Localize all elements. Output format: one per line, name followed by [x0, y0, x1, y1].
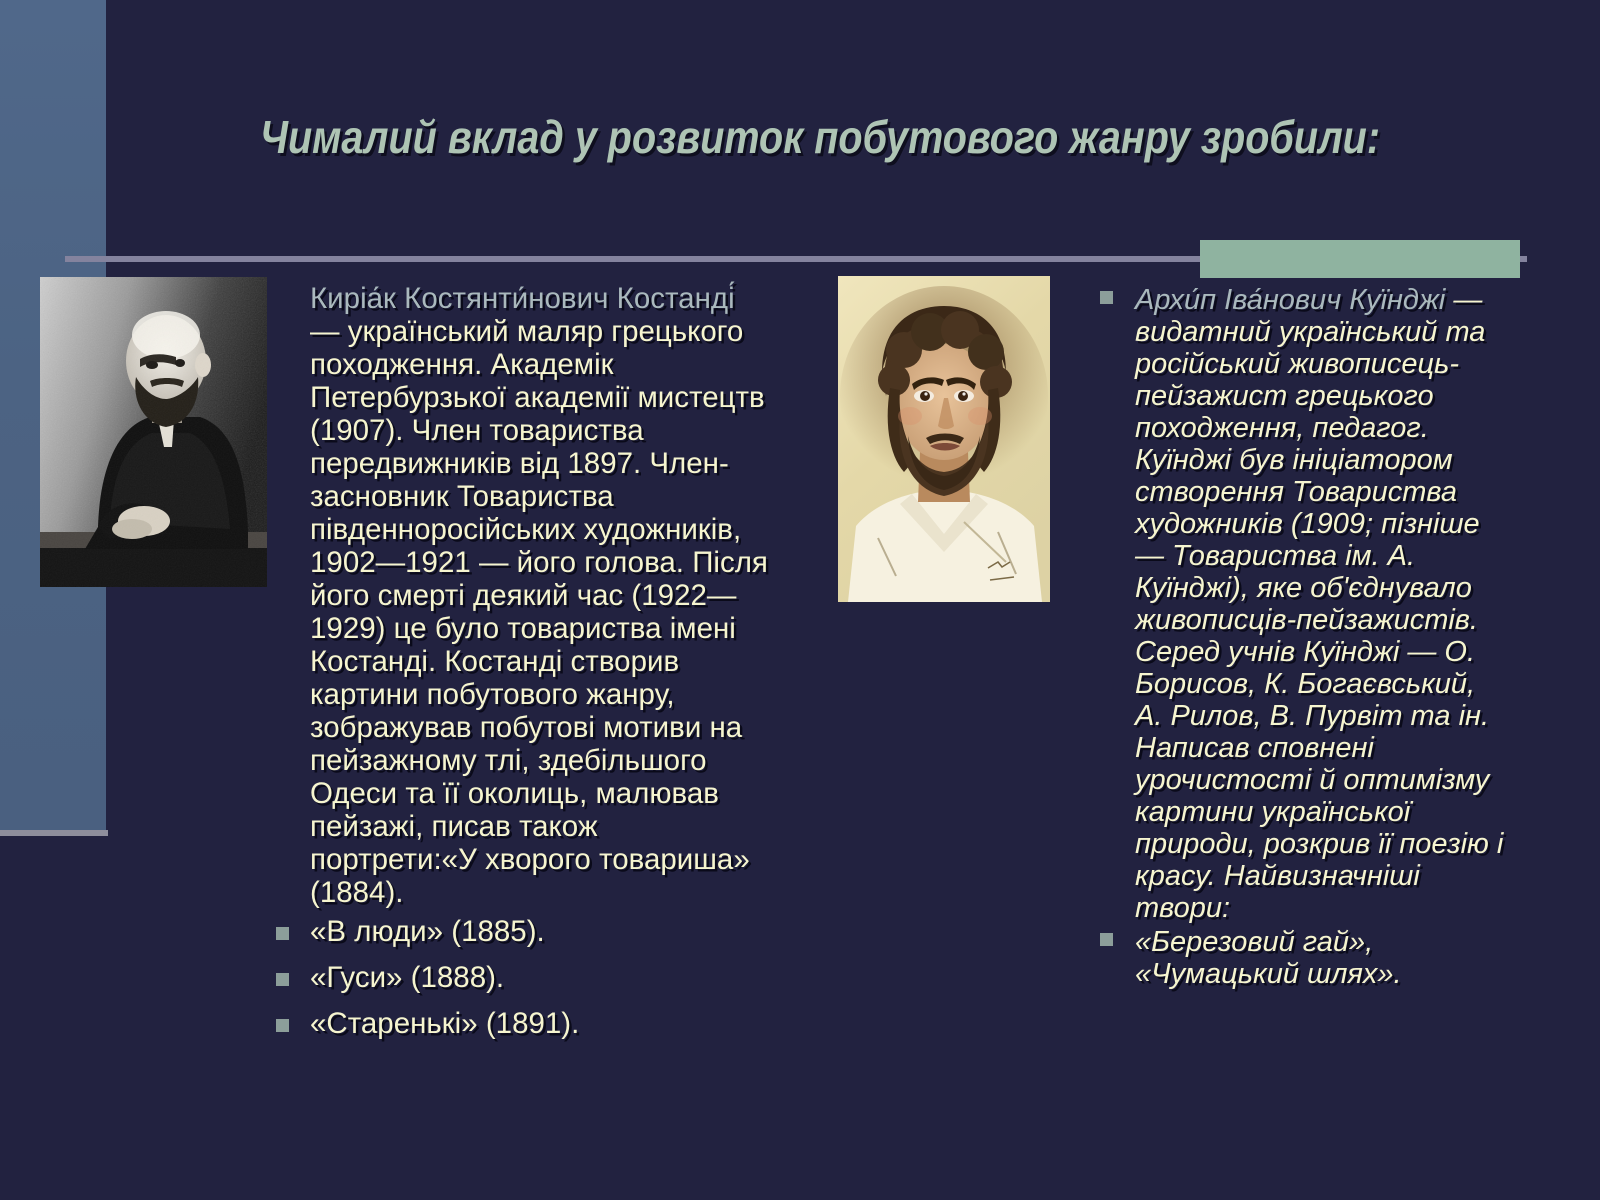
kostandi-name: Киріа́к Костянти́нович Костанді́ [310, 282, 735, 315]
list-item[interactable]: «В люди» (1885). [262, 909, 772, 955]
portrait-kuindzhi-image [838, 276, 1050, 602]
page-title: Чималий вклад у розвиток побутового жанр… [244, 110, 1396, 164]
green-accent-block [1200, 240, 1520, 278]
list-item[interactable]: «Старенькі» (1891). [262, 1001, 772, 1047]
kostandi-body: — український маляр грецького походження… [310, 315, 768, 909]
portrait-kostandi [40, 277, 267, 587]
left-text-column: Киріа́к Костянти́нович Костанді́ — украї… [262, 282, 772, 1047]
kuindzhi-intro-list: Архи́п Іва́нович Куїнджі — видатний укра… [1090, 282, 1510, 924]
kostandi-works-list: «В люди» (1885). «Гуси» (1888). «Старень… [262, 909, 772, 1047]
left-panel-base-line [0, 830, 108, 836]
kuindzhi-paragraph: Архи́п Іва́нович Куїнджі — видатний укра… [1090, 282, 1510, 924]
kostandi-paragraph: Киріа́к Костянти́нович Костанді́ — украї… [262, 282, 772, 909]
portrait-kostandi-image [40, 277, 267, 587]
kuindzhi-body: — видатний український та російський жив… [1135, 284, 1503, 924]
list-item[interactable]: «Гуси» (1888). [262, 955, 772, 1001]
list-item[interactable]: «Березовий гай», «Чумацький шлях». [1090, 924, 1510, 990]
kuindzhi-works-list: «Березовий гай», «Чумацький шлях». [1090, 924, 1510, 990]
kuindzhi-name: Архи́п Іва́нович Куїнджі [1135, 284, 1445, 316]
right-text-column: Архи́п Іва́нович Куїнджі — видатний укра… [1090, 282, 1510, 990]
portrait-kuindzhi [838, 276, 1050, 602]
